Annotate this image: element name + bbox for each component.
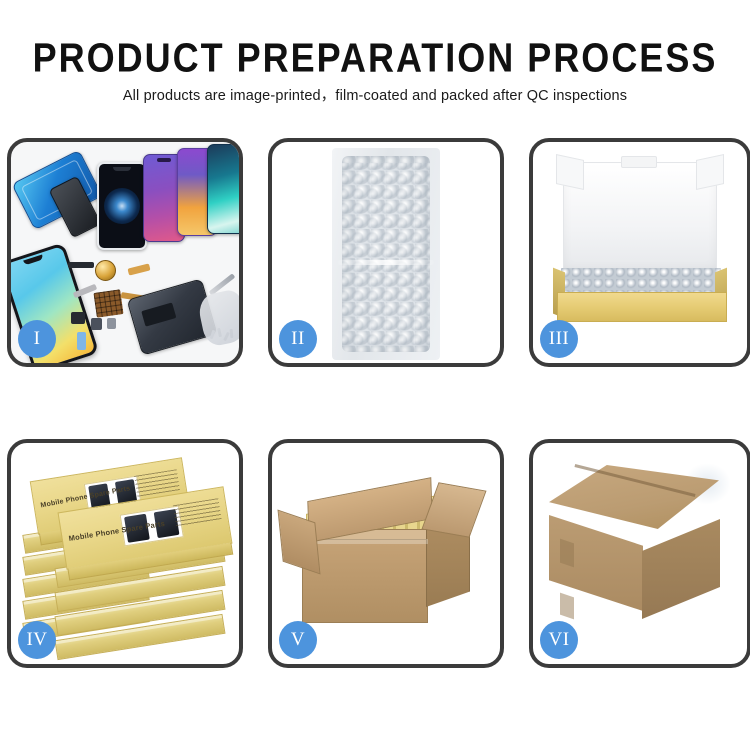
speaker-coil-part-icon — [95, 260, 116, 281]
step-badge-6: VI — [540, 621, 578, 659]
step-badge-3: III — [540, 320, 578, 358]
step-badge-1: I — [18, 320, 56, 358]
earpiece-part-icon — [68, 262, 94, 268]
carton-tape-lower-icon — [560, 593, 574, 620]
sealed-carton-right-face-icon — [642, 519, 720, 619]
vibrator-part-icon — [91, 318, 102, 330]
step-badge-5: V — [279, 621, 317, 659]
step-badge-2: II — [279, 320, 317, 358]
step-panel-6[interactable]: VI — [529, 439, 750, 668]
flex-cable-part-icon — [127, 263, 150, 275]
sim-tray-part-icon — [77, 332, 86, 350]
process-step-grid: I II III — [7, 138, 745, 668]
page-header: PRODUCT PREPARATION PROCESS All products… — [0, 0, 750, 105]
box-lid-tab-icon — [621, 156, 657, 168]
teal-screen-phone-icon — [207, 144, 239, 234]
button-part-icon — [107, 318, 116, 329]
chip-board-part-icon — [93, 289, 123, 318]
step-panel-5[interactable]: V — [268, 439, 504, 668]
retail-box-spec-lines-icon — [135, 469, 180, 496]
box-lid-icon — [563, 162, 717, 276]
black-screen-phone-icon — [97, 162, 147, 250]
carton-tape-upper-icon — [560, 539, 574, 568]
retail-box-spec-lines-icon — [172, 498, 221, 527]
bubble-wrapped-contents-icon — [561, 268, 721, 294]
carton-front-icon — [302, 539, 428, 623]
step-panel-2[interactable]: II — [268, 138, 504, 367]
step-badge-4: IV — [18, 621, 56, 659]
box-tray-front-icon — [557, 292, 727, 322]
step-panel-1[interactable]: I — [7, 138, 243, 367]
step-panel-4[interactable]: Mobile Phone Spare Parts Mobile Phone Sp… — [7, 439, 243, 668]
step-panel-3[interactable]: III — [529, 138, 750, 367]
bubble-wrap-icon — [342, 156, 430, 352]
camera-module-part-icon — [71, 312, 85, 324]
page-title: PRODUCT PREPARATION PROCESS — [0, 0, 750, 79]
wrap-seam-icon — [338, 260, 434, 265]
